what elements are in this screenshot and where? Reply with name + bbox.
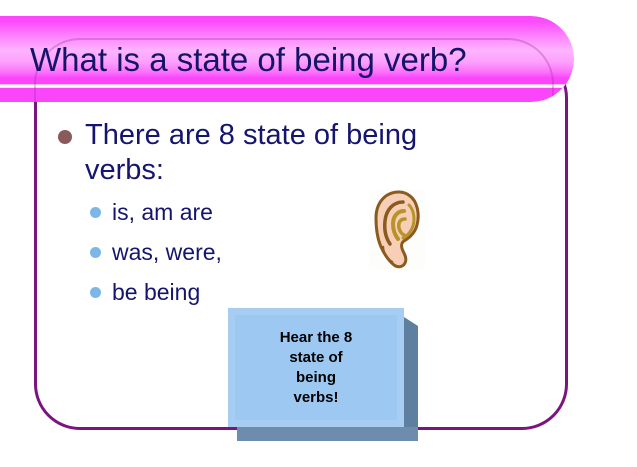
main-bullet-item: There are 8 state of being verbs:: [52, 118, 522, 188]
button-label-line-2: state of: [235, 348, 397, 368]
list-item: was, were,: [88, 238, 522, 266]
sub-bullet-list: is, am are was, were, be being: [52, 198, 522, 306]
main-bullet-label: There are 8 state of being verbs:: [85, 118, 495, 188]
sub-bullet-dot-icon: [90, 287, 101, 298]
sub-bullet-dot-icon: [90, 247, 101, 258]
button-label: Hear the 8 state of being verbs!: [235, 328, 397, 408]
page-title: What is a state of being verb?: [30, 40, 560, 80]
sub-bullet-label: is, am are: [112, 199, 213, 225]
button-bevel: Hear the 8 state of being verbs!: [228, 308, 404, 427]
button-face: Hear the 8 state of being verbs!: [235, 315, 397, 420]
slide-canvas: What is a state of being verb? There are…: [0, 0, 637, 467]
button-bottom-bevel-shadow: [237, 427, 418, 441]
title-banner: What is a state of being verb?: [0, 16, 574, 102]
button-label-line-4: verbs!: [235, 388, 397, 408]
button-right-bevel-shadow: [404, 317, 418, 441]
hear-verbs-audio-button[interactable]: Hear the 8 state of being verbs!: [228, 308, 418, 441]
slide-body: There are 8 state of being verbs: is, am…: [52, 118, 522, 318]
sub-bullet-dot-icon: [90, 207, 101, 218]
sub-bullet-label: was, were,: [112, 239, 222, 265]
ear-image: [369, 189, 425, 269]
ear-icon: [369, 189, 425, 269]
button-label-line-1: Hear the 8: [235, 328, 397, 348]
list-item: be being: [88, 278, 522, 306]
list-item: is, am are: [88, 198, 522, 226]
bullet-dot-icon: [58, 130, 72, 144]
sub-bullet-label: be being: [112, 279, 200, 305]
button-label-line-3: being: [235, 368, 397, 388]
